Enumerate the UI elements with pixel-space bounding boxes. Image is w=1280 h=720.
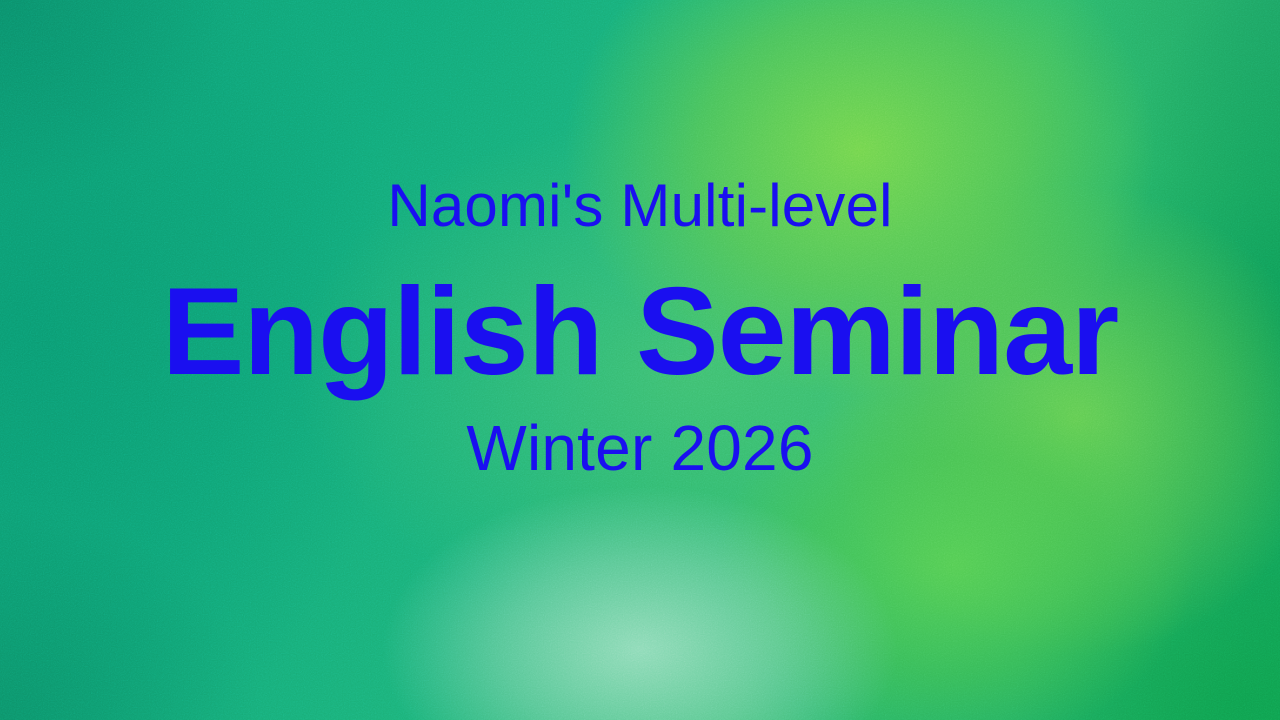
slide-title: English Seminar [162,270,1119,394]
title-slide: Naomi's Multi-level English Seminar Wint… [0,0,1280,720]
slide-text-content: Naomi's Multi-level English Seminar Wint… [0,0,1280,720]
presenter-line: Naomi's Multi-level [387,176,892,236]
term-line: Winter 2026 [466,416,813,480]
